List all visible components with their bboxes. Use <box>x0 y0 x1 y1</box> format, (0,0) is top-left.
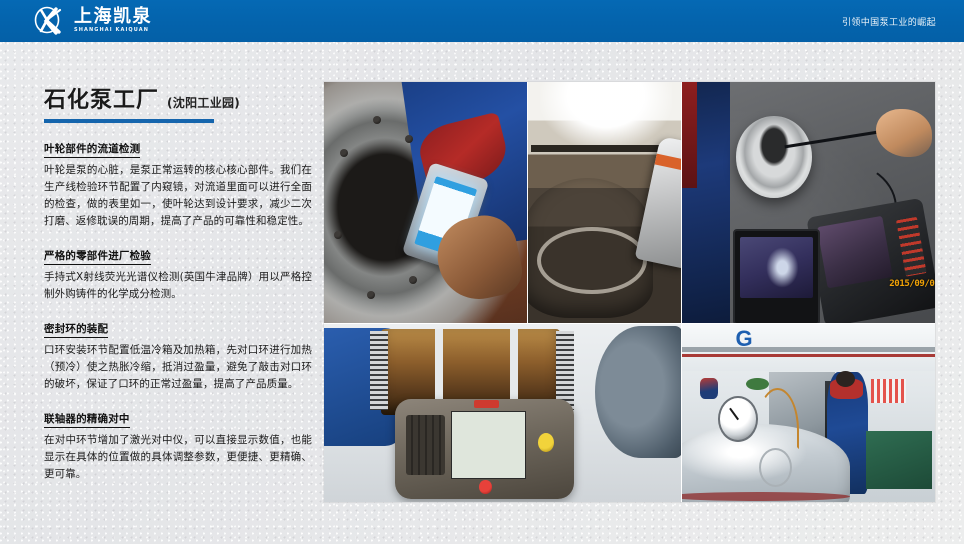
xrf-analyzer-gun <box>635 136 681 269</box>
unit-screen <box>451 411 526 479</box>
laser-alignment-display-unit <box>395 399 574 499</box>
gauge-needle <box>729 408 738 420</box>
window-glare <box>540 82 672 149</box>
wall-poster <box>871 379 907 402</box>
borescope-monitor <box>733 229 820 323</box>
vessel-valve <box>746 378 769 391</box>
photo-collage: 2015/09/0 <box>324 82 935 502</box>
technician-hand <box>876 109 932 157</box>
photo-impeller-flange-inspection <box>324 82 527 323</box>
section-incoming-parts-inspection: 严格的零部件进厂检验 手持式X射线荧光光谱仪检测(英国牛津品牌）用以严格控制外购… <box>44 244 312 303</box>
flange-bolt-hole <box>340 149 348 157</box>
power-button <box>479 480 491 494</box>
borescope-unit <box>806 198 935 323</box>
laser-sensor-bracket <box>556 331 574 410</box>
borescope-keypad <box>896 217 927 277</box>
foreground-worker-head <box>836 371 855 387</box>
header-tagline: 引领中国泵工业的崛起 <box>842 0 936 42</box>
section-body: 手持式X射线荧光光谱仪检测(英国牛津品牌）用以严格控制外购铸件的化学成分检测。 <box>44 269 312 303</box>
brand-logo[interactable]: 上海凯泉 SHANGHAI KAIQUAN <box>34 5 152 37</box>
workshop-rail <box>531 145 678 152</box>
slide-root: 上海凯泉 SHANGHAI KAIQUAN 引领中国泵工业的崛起 石化泵工厂 (… <box>0 0 964 544</box>
flange-bolt-hole <box>367 291 375 299</box>
ok-button <box>538 433 554 452</box>
brand-name-cn: 上海凯泉 <box>74 8 152 26</box>
driven-pump-housing <box>595 326 681 458</box>
unit-brand-tab <box>474 400 499 408</box>
section-heading: 严格的零部件进厂检验 <box>44 248 151 265</box>
ceiling-beam <box>682 347 935 351</box>
flange-bolt-hole <box>373 116 381 124</box>
content-left-column: 石化泵工厂 (沈阳工业园) 叶轮部件的流道检测 叶轮是泵的心脏，是泵正常运转的核… <box>44 82 312 483</box>
wall-sign-letter: G <box>736 326 753 352</box>
section-seal-ring-assembly: 密封环的装配 口环安装环节配置低温冷箱及加热箱，先对口环进行加热（预冷）使之热胀… <box>44 317 312 393</box>
section-heading: 叶轮部件的流道检测 <box>44 141 140 158</box>
flange-bolt-hole <box>409 276 417 284</box>
section-heading: 联轴器的精确对中 <box>44 411 130 428</box>
page-header: 上海凯泉 SHANGHAI KAIQUAN 引领中国泵工业的崛起 <box>0 0 964 42</box>
kaiquan-logo-icon <box>34 6 68 36</box>
brand-wordmark: 上海凯泉 SHANGHAI KAIQUAN <box>74 8 152 34</box>
borescope-screen <box>817 216 892 289</box>
brand-name-en: SHANGHAI KAIQUAN <box>74 28 152 33</box>
sprinkler-pipe <box>682 354 935 357</box>
laser-sensor-bracket <box>370 331 388 410</box>
section-heading: 密封环的装配 <box>44 321 108 338</box>
unit-keypad <box>406 415 445 475</box>
photo-casing-xrf-analyzer <box>528 82 681 323</box>
vessel-lifting-ring <box>759 448 792 487</box>
photo-impeller-borescope-inspection: 2015/09/0 <box>682 82 935 323</box>
borescope-monitor-view <box>740 237 813 298</box>
photo-pressure-vessel-workshop: G <box>682 324 935 502</box>
photo-laser-shaft-alignment <box>324 324 681 502</box>
photo-timestamp: 2015/09/0 <box>889 279 934 289</box>
casing-flange-ring <box>537 227 647 294</box>
section-body: 叶轮是泵的心脏，是泵正常运转的核心核心部件。我们在生产线检验环节配置了内窥镜，对… <box>44 162 312 230</box>
section-coupling-alignment: 联轴器的精确对中 在对中环节增加了激光对中仪，可以直接显示数值，也能显示在具体的… <box>44 407 312 483</box>
page-subtitle: (沈阳工业园) <box>167 94 240 111</box>
worker-sleeve-trim <box>682 82 697 188</box>
section-impeller-flow-inspection: 叶轮部件的流道检测 叶轮是泵的心脏，是泵正常运转的核心核心部件。我们在生产线检验… <box>44 137 312 230</box>
section-body: 在对中环节增加了激光对中仪，可以直接显示数值，也能显示在具体的位置做的具体调整参… <box>44 432 312 483</box>
title-underline-rule <box>44 119 214 123</box>
section-body: 口环安装环节配置低温冷箱及加热箱，先对口环进行加热（预冷）使之热胀冷缩，抵消过盈… <box>44 342 312 393</box>
analyzer-accent-band <box>655 153 681 175</box>
page-title: 石化泵工厂 <box>44 82 159 114</box>
background-worker <box>700 378 718 399</box>
flange-bolt-hole <box>334 231 342 239</box>
page-title-row: 石化泵工厂 (沈阳工业园) <box>44 82 312 114</box>
green-partition-board <box>866 431 932 488</box>
